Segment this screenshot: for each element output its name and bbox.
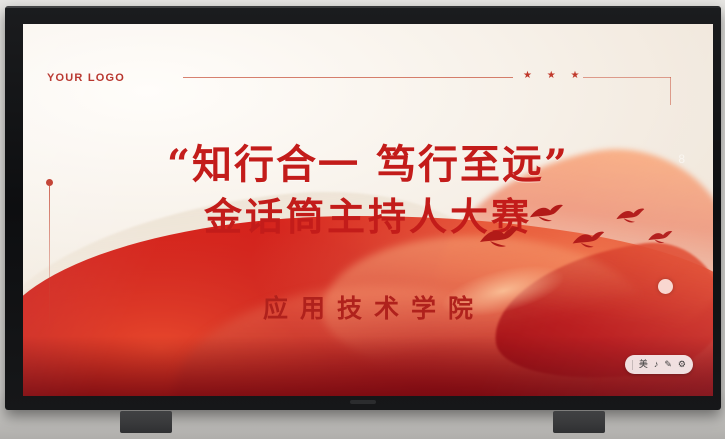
tv-stand-left <box>120 411 172 433</box>
header-corner-line <box>670 77 671 105</box>
screen-toolbar[interactable]: 美 ♪ ✎ ⚙ <box>625 355 693 374</box>
tv-bezel: YOUR LOGO ★ ★ ★ “知行合一 笃行至远” 金话筒主持人大赛 应用技… <box>5 6 721 410</box>
dove-icon <box>478 224 520 254</box>
presentation-slide: YOUR LOGO ★ ★ ★ “知行合一 笃行至远” 金话筒主持人大赛 应用技… <box>23 24 713 396</box>
silk-bottom-shade <box>23 336 713 396</box>
dove-icon <box>615 206 645 229</box>
toolbar-item-settings[interactable]: ⚙ <box>678 360 686 369</box>
photograph: YOUR LOGO ★ ★ ★ “知行合一 笃行至远” 金话筒主持人大赛 应用技… <box>0 0 725 439</box>
slide-title-main: “知行合一 笃行至远” <box>23 132 713 190</box>
dove-icon <box>647 229 673 249</box>
toolbar-item-music[interactable]: ♪ <box>654 360 659 369</box>
header-divider-line <box>183 77 513 78</box>
dove-icon <box>571 229 605 254</box>
floating-action-button[interactable] <box>658 279 673 294</box>
toolbar-item-beauty[interactable]: 美 <box>639 360 648 369</box>
tv-stand-right <box>553 411 605 433</box>
screen-corner-indicator: 8 <box>678 152 685 166</box>
stars-decoration: ★ ★ ★ <box>523 70 585 81</box>
toolbar-separator <box>632 360 633 370</box>
slide-title-sub: 金话筒主持人大赛 <box>23 186 713 241</box>
slide-logo-placeholder: YOUR LOGO <box>47 72 125 84</box>
tv-screen[interactable]: YOUR LOGO ★ ★ ★ “知行合一 笃行至远” 金话筒主持人大赛 应用技… <box>23 24 713 396</box>
toolbar-item-pen[interactable]: ✎ <box>664 360 672 369</box>
slide-organization: 应用技术学院 <box>23 289 713 325</box>
header-divider-line-right <box>583 77 671 78</box>
dove-icon <box>528 202 564 228</box>
ir-receiver-window <box>350 400 376 404</box>
bezel-bottom-strip <box>23 396 703 406</box>
